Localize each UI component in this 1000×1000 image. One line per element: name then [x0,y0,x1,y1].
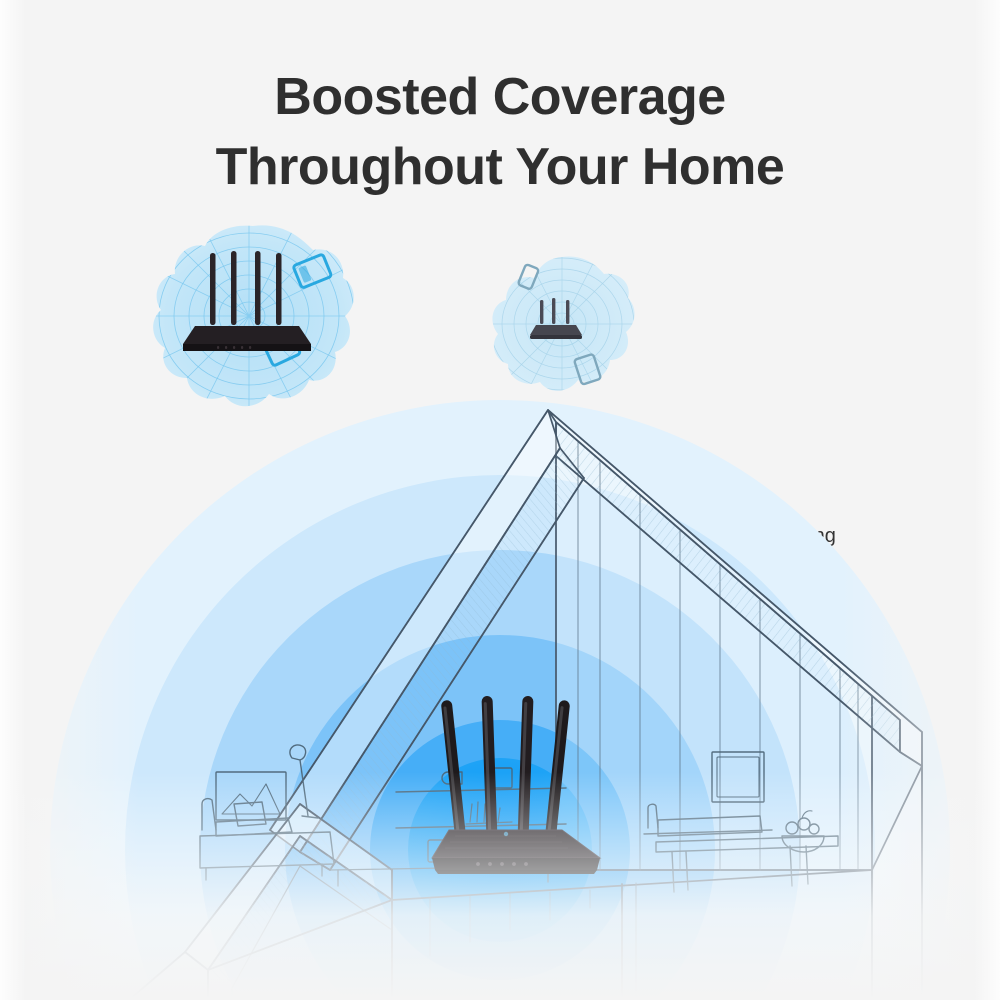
promo-image: Boosted Coverage Throughout Your Home [0,0,1000,1000]
house-scene [0,400,1000,1000]
archer-coverage-illustration [143,220,363,420]
archer-coverage-blob [143,220,363,420]
page-title: Boosted Coverage Throughout Your Home [0,62,1000,202]
comparison-row: Archer A6 [0,212,1000,412]
headline-line-1: Boosted Coverage [0,62,1000,132]
other-router-coverage-illustration [482,252,642,402]
headline-line-2: Throughout Your Home [0,132,1000,202]
